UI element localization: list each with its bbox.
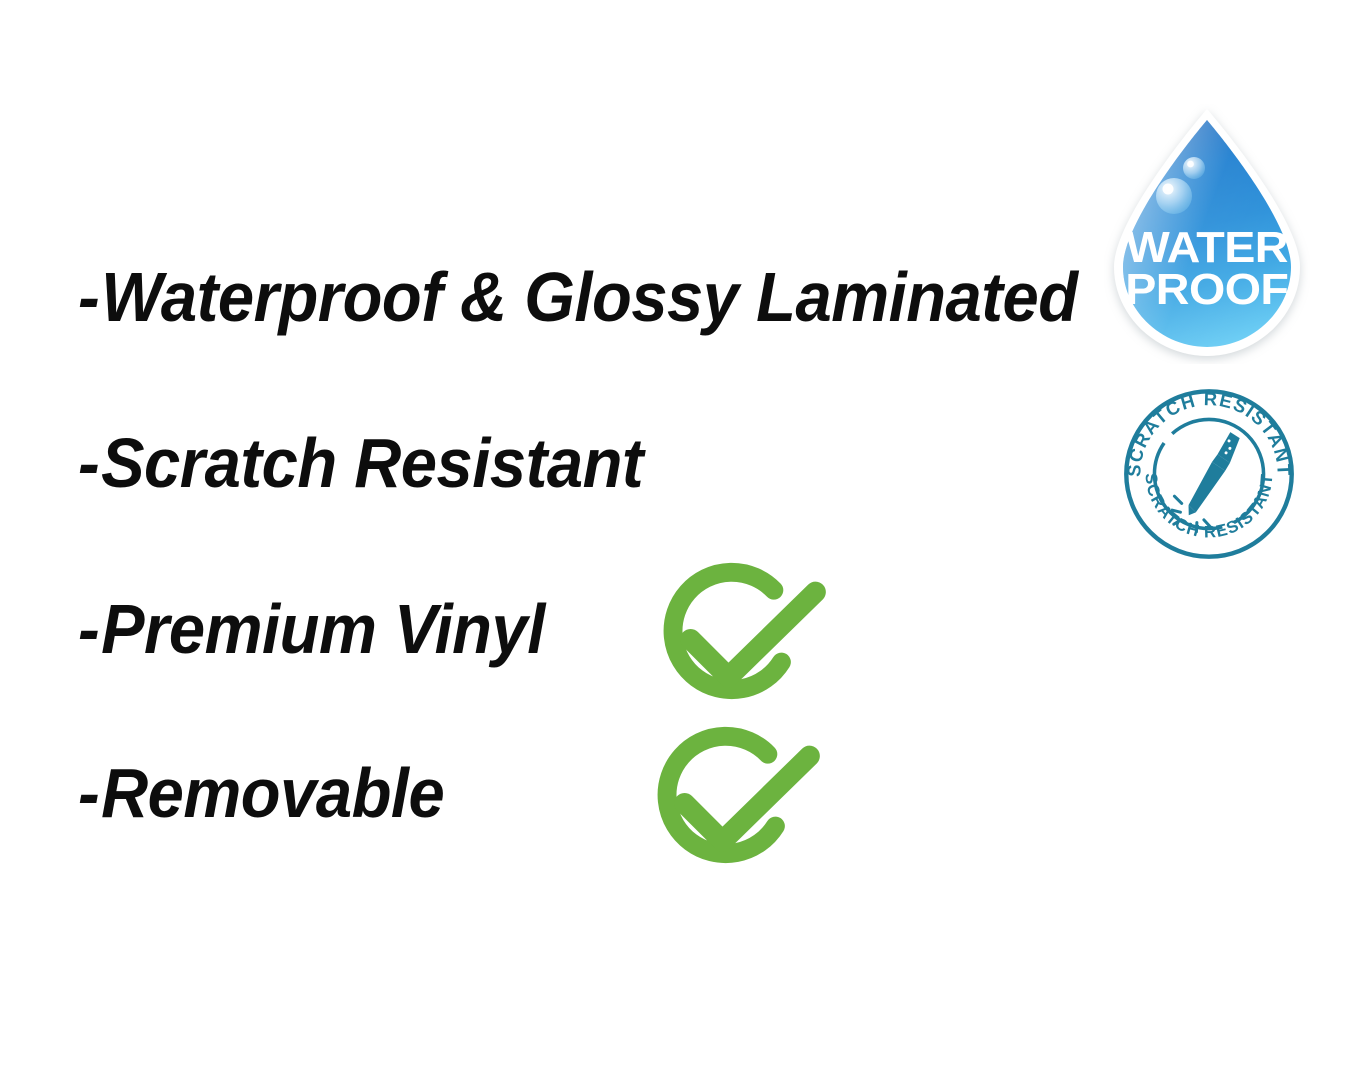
- feature-label: Waterproof & Glossy Laminated: [101, 258, 1077, 336]
- droplet-bubble-large-highlight: [1163, 184, 1174, 195]
- droplet-bubble-small-highlight: [1187, 161, 1194, 168]
- waterproof-text-line-2: PROOF: [1125, 264, 1288, 313]
- feature-bullet-dash: -: [78, 594, 99, 664]
- scratch-resistant-badge: SCRATCH RESISTANT SCRATCH RESISTANT: [1112, 386, 1306, 562]
- feature-line-waterproof: -Waterproof & Glossy Laminated: [78, 262, 1078, 332]
- check-stroke: [691, 592, 816, 677]
- feature-bullet-dash: -: [78, 262, 99, 332]
- product-feature-graphic: -Waterproof & Glossy Laminated -Scratch …: [0, 0, 1359, 1080]
- feature-label: Removable: [101, 754, 444, 832]
- droplet-bubble-small: [1183, 157, 1205, 179]
- check-stroke: [685, 756, 810, 841]
- checkmark-icon-removable: [635, 722, 825, 897]
- badge-text-top: SCRATCH RESISTANT: [1123, 388, 1295, 477]
- circle-check-icon: [667, 736, 809, 853]
- feature-bullet-dash: -: [78, 758, 99, 828]
- feature-line-premium-vinyl: -Premium Vinyl: [78, 594, 545, 664]
- checkmark-icon-premium-vinyl: [641, 558, 831, 733]
- waterproof-badge: WATER PROOF: [1104, 104, 1310, 364]
- circle-check-icon: [673, 572, 815, 689]
- feature-label: Premium Vinyl: [101, 590, 545, 668]
- feature-line-removable: -Removable: [78, 758, 444, 828]
- droplet-bubble-large: [1156, 178, 1192, 214]
- feature-line-scratch-resistant: -Scratch Resistant: [78, 428, 643, 498]
- feature-label: Scratch Resistant: [101, 424, 643, 502]
- feature-bullet-dash: -: [78, 428, 99, 498]
